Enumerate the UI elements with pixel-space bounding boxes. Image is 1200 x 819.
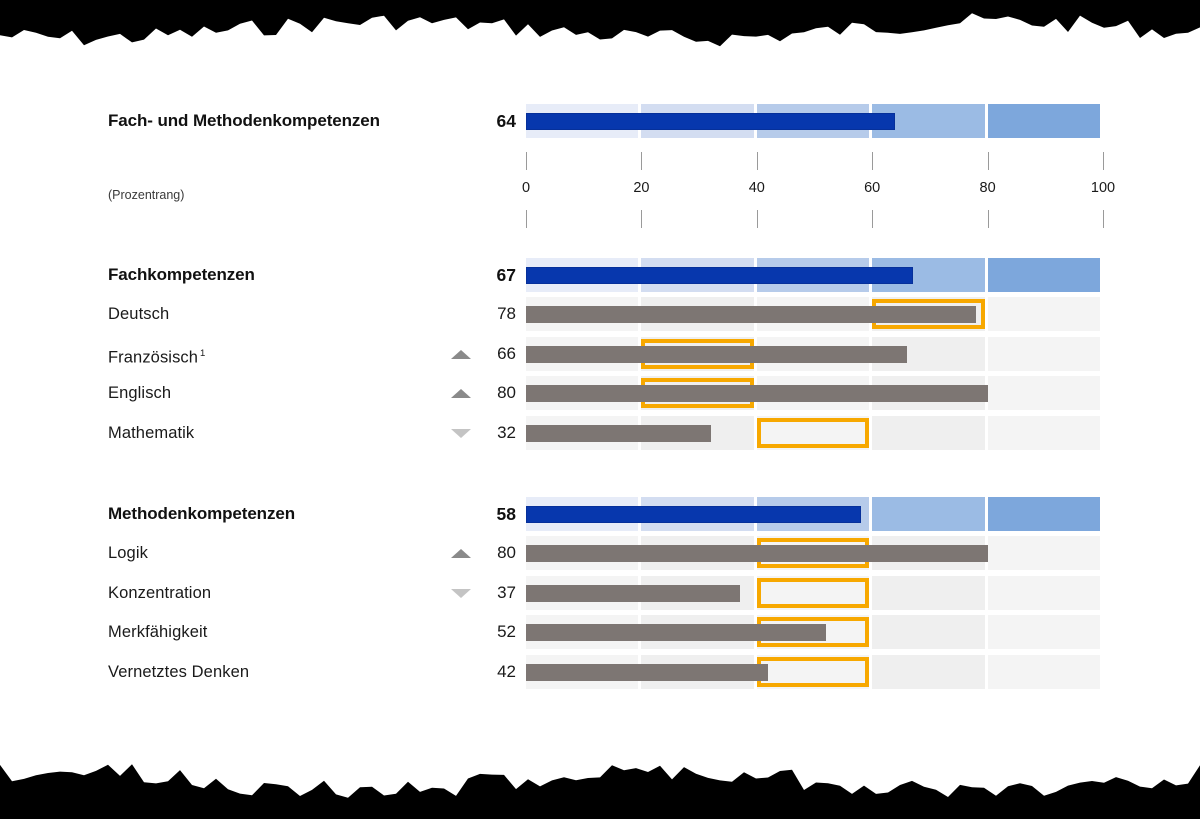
- axis-tick: [641, 210, 642, 228]
- table-row: Merkfähigkeit52: [0, 615, 1200, 649]
- percentile-value: 32: [470, 416, 516, 450]
- value-bar: [526, 385, 988, 402]
- axis-tick-label: 80: [958, 180, 1018, 196]
- value-bar: [526, 506, 861, 523]
- percentile-value: 67: [470, 258, 516, 292]
- value-bar: [526, 664, 768, 681]
- percentile-axis: 020406080100: [526, 152, 1103, 236]
- reference-range-box: [757, 418, 869, 448]
- triangle-up-icon: [451, 389, 471, 398]
- triangle-up-icon: [451, 549, 471, 558]
- axis-caption: (Prozentrang): [108, 188, 184, 202]
- percentile-plot: [526, 337, 1103, 371]
- axis-tick: [872, 210, 873, 228]
- scale-band: [988, 258, 1100, 292]
- footnote-marker: 1: [200, 348, 205, 359]
- percentile-plot: [526, 258, 1103, 292]
- scale-band: [988, 497, 1100, 531]
- axis-tick-label: 60: [842, 180, 902, 196]
- scale-band: [872, 416, 984, 450]
- table-row: Deutsch78: [0, 297, 1200, 331]
- row-label: Vernetztes Denken: [108, 655, 249, 689]
- percentile-plot: [526, 655, 1103, 689]
- reference-range-box: [757, 657, 869, 687]
- value-bar: [526, 306, 976, 323]
- row-label: Konzentration: [108, 576, 211, 610]
- percentile-value: 42: [470, 655, 516, 689]
- scale-band: [988, 297, 1100, 331]
- row-label: Mathematik: [108, 416, 194, 450]
- row-label: Logik: [108, 536, 148, 570]
- scale-band: [988, 376, 1100, 410]
- percentile-value: 58: [470, 497, 516, 531]
- percentile-value: 78: [470, 297, 516, 331]
- axis-tick: [757, 152, 758, 170]
- triangle-down-icon: [451, 429, 471, 438]
- reference-range-box: [757, 578, 869, 608]
- scale-band: [988, 615, 1100, 649]
- percentile-value: 64: [470, 104, 516, 138]
- scale-band: [988, 104, 1100, 138]
- section-header-label: Fachkompetenzen: [108, 258, 255, 292]
- section-header-row: Methodenkompetenzen58: [0, 497, 1200, 531]
- value-bar: [526, 624, 826, 641]
- value-bar: [526, 267, 913, 284]
- table-row: Französisch166: [0, 337, 1200, 371]
- percentile-value: 80: [470, 536, 516, 570]
- axis-tick: [641, 152, 642, 170]
- screenshot-stage: Fach- und Methodenkompetenzen64 02040608…: [0, 0, 1200, 819]
- axis-tick-label: 20: [611, 180, 671, 196]
- percentile-value: 52: [470, 615, 516, 649]
- table-row: Englisch80: [0, 376, 1200, 410]
- table-row: Mathematik32: [0, 416, 1200, 450]
- table-row: Logik80: [0, 536, 1200, 570]
- axis-tick: [526, 210, 527, 228]
- axis-tick: [988, 152, 989, 170]
- section-header-row: Fachkompetenzen67: [0, 258, 1200, 292]
- axis-tick: [1103, 152, 1104, 170]
- section-header-label: Fach- und Methodenkompetenzen: [108, 104, 380, 138]
- value-bar: [526, 425, 711, 442]
- percentile-plot: [526, 104, 1103, 138]
- table-row: Konzentration37: [0, 576, 1200, 610]
- scale-band: [988, 655, 1100, 689]
- value-bar: [526, 545, 988, 562]
- percentile-plot: [526, 576, 1103, 610]
- axis-tick-label: 100: [1073, 180, 1133, 196]
- percentile-value: 37: [470, 576, 516, 610]
- scale-band: [872, 655, 984, 689]
- percentile-plot: [526, 297, 1103, 331]
- scale-band: [872, 497, 984, 531]
- percentile-plot: [526, 416, 1103, 450]
- scale-band: [988, 576, 1100, 610]
- row-label: Merkfähigkeit: [108, 615, 207, 649]
- axis-tick-label: 40: [727, 180, 787, 196]
- axis-tick: [526, 152, 527, 170]
- axis-tick-label: 0: [496, 180, 556, 196]
- scale-band: [988, 416, 1100, 450]
- triangle-down-icon: [451, 589, 471, 598]
- scale-band: [988, 536, 1100, 570]
- table-row: Vernetztes Denken42: [0, 655, 1200, 689]
- percentile-plot: [526, 615, 1103, 649]
- percentile-plot: [526, 497, 1103, 531]
- scale-band: [872, 615, 984, 649]
- axis-tick: [757, 210, 758, 228]
- percentile-value: 66: [470, 337, 516, 371]
- value-bar: [526, 346, 907, 363]
- row-label: Deutsch: [108, 297, 169, 331]
- report-content: Fach- und Methodenkompetenzen64 02040608…: [0, 0, 1200, 819]
- percentile-value: 80: [470, 376, 516, 410]
- value-bar: [526, 113, 895, 130]
- percentile-plot: [526, 536, 1103, 570]
- percentile-plot: [526, 376, 1103, 410]
- triangle-up-icon: [451, 350, 471, 359]
- row-label: Englisch: [108, 376, 171, 410]
- scale-band: [988, 337, 1100, 371]
- summary-row: Fach- und Methodenkompetenzen64: [0, 104, 1200, 138]
- axis-tick: [872, 152, 873, 170]
- row-label: Französisch1: [108, 337, 205, 371]
- value-bar: [526, 585, 740, 602]
- section-header-label: Methodenkompetenzen: [108, 497, 295, 531]
- scale-band: [872, 576, 984, 610]
- axis-tick: [1103, 210, 1104, 228]
- axis-tick: [988, 210, 989, 228]
